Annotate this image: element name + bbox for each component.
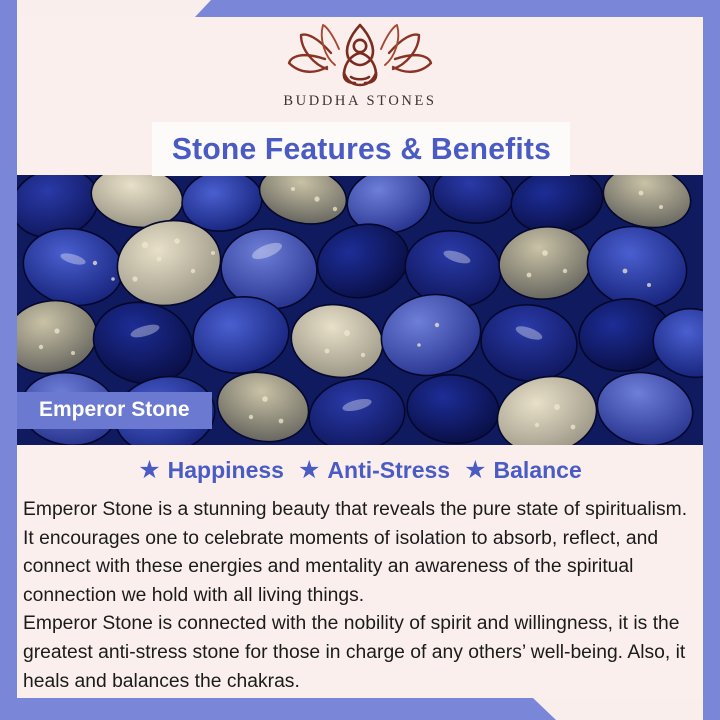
benefit-label: Anti-Stress (327, 457, 450, 484)
description-paragraph-1: Emperor Stone is a stunning beauty that … (23, 495, 689, 609)
frame-band-left (0, 0, 17, 720)
benefit-label: Balance (494, 457, 582, 484)
page-title: Stone Features & Benefits (171, 131, 550, 167)
star-icon: ★ (464, 458, 486, 483)
page-content: BUDDHA STONES Stone Features & Benefits (17, 17, 703, 698)
description-block: Emperor Stone is a stunning beauty that … (23, 495, 689, 695)
title-banner: Stone Features & Benefits (152, 122, 570, 176)
frame-band-right (703, 0, 720, 720)
star-icon: ★ (138, 458, 160, 483)
benefit-item: ★ Balance (464, 457, 582, 484)
benefit-item: ★ Happiness (138, 457, 284, 484)
brand-header: BUDDHA STONES (17, 17, 703, 122)
star-icon: ★ (298, 458, 320, 483)
benefit-item: ★ Anti-Stress (298, 457, 450, 484)
description-paragraph-2: Emperor Stone is connected with the nobi… (23, 609, 689, 695)
benefits-row: ★ Happiness ★ Anti-Stress ★ Balance (17, 457, 703, 484)
benefit-label: Happiness (168, 457, 284, 484)
frame-band-bottom (0, 698, 556, 720)
frame-band-top (195, 0, 720, 17)
stone-name-badge: Emperor Stone (17, 392, 212, 429)
hero-image: Emperor Stone (17, 175, 703, 445)
lotus-meditation-icon (285, 23, 435, 91)
brand-wordmark: BUDDHA STONES (283, 93, 436, 110)
